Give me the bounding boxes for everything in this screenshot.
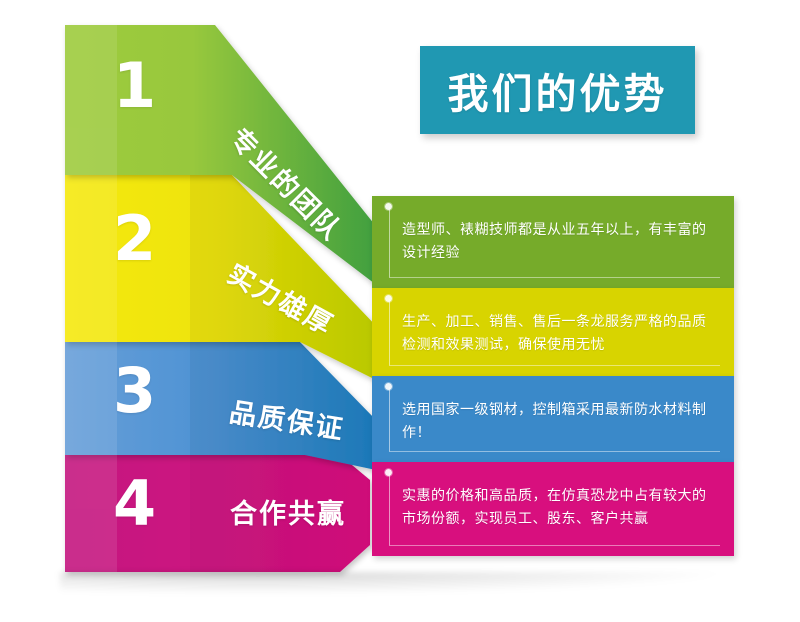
- ribbon-highlight: [65, 25, 117, 572]
- advantage-panel-3: 选用国家一级钢材，控制箱采用最新防水材料制作！: [372, 376, 734, 462]
- advantage-text-4: 实惠的价格和高品质，在仿真恐龙中占有较大的市场份额，实现员工、股东、客户共赢: [372, 462, 734, 549]
- advantage-number-1: 1: [113, 55, 155, 117]
- advantage-text-2: 生产、加工、销售、售后一条龙服务严格的品质检测和效果测试，确保使用无忧: [372, 288, 734, 375]
- advantage-number-4: 4: [113, 473, 155, 535]
- page-title-block: 我们的优势: [420, 46, 695, 134]
- infographic-canvas: 1 2 3 4 专业的团队 实力雄厚 品质保证 合作共赢 我们的优势 造型师、裱…: [0, 0, 800, 622]
- ribbon-shapes: [0, 0, 420, 622]
- advantage-panel-2: 生产、加工、销售、售后一条龙服务严格的品质检测和效果测试，确保使用无忧: [372, 288, 734, 376]
- advantage-number-2: 2: [113, 208, 155, 270]
- drop-shadow: [60, 572, 720, 594]
- advantage-number-3: 3: [113, 360, 155, 422]
- advantage-panel-4: 实惠的价格和高品质，在仿真恐龙中占有较大的市场份额，实现员工、股东、客户共赢: [372, 462, 734, 556]
- advantage-text-1: 造型师、裱糊技师都是从业五年以上，有丰富的设计经验: [372, 196, 734, 283]
- advantage-panel-1: 造型师、裱糊技师都是从业五年以上，有丰富的设计经验: [372, 196, 734, 288]
- advantage-text-3: 选用国家一级钢材，控制箱采用最新防水材料制作！: [372, 376, 734, 463]
- advantage-label-4: 合作共赢: [230, 492, 346, 531]
- ribbon-stack: 1 2 3 4 专业的团队 实力雄厚 品质保证 合作共赢: [0, 0, 420, 622]
- page-title: 我们的优势: [448, 60, 668, 120]
- advantage-panel-list: 造型师、裱糊技师都是从业五年以上，有丰富的设计经验 生产、加工、销售、售后一条龙…: [372, 196, 734, 556]
